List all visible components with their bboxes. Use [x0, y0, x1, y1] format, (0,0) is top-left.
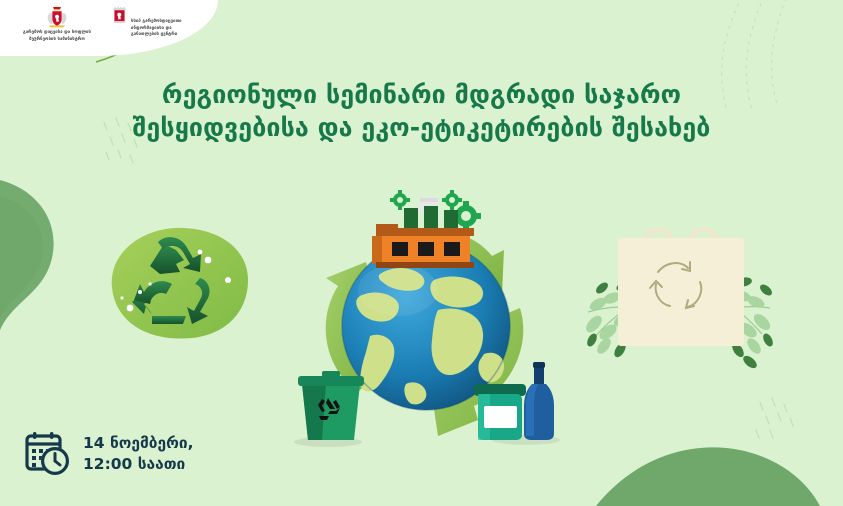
tote-bag [618, 229, 744, 346]
georgia-coat-of-arms-icon [46, 5, 68, 29]
recycle-bin-icon [294, 371, 364, 447]
title-line-2: შესყიდვებისა და ეკო-ეტიკეტირების შესახებ [60, 111, 783, 144]
logo-eiec-text: სსიპ გარემოსდაცვითი ინფორმაციისა და განა… [131, 4, 182, 38]
globe-recycling-cycle-illustration [288, 178, 568, 458]
title-line-1: რეგიონული სემინარი მდგრადი საჯარო [60, 78, 783, 111]
logo-eiec: სსიპ გარემოსდაცვითი ინფორმაციისა და განა… [112, 4, 220, 38]
logo-ministry: გარემოს დაცვისა და სოფლის მეურნეობის სამ… [8, 5, 106, 42]
poster-canvas: გარემოს დაცვისა და სოფლის მეურნეობის სამ… [0, 0, 843, 506]
red-shield-emblem-icon [112, 7, 127, 25]
recycling-symbol-illustration [88, 218, 268, 378]
factory-icon [372, 190, 481, 268]
event-datetime-text: 14 ნოემბერი, 12:00 საათი [83, 433, 194, 474]
logo-ministry-line2: მეურნეობის სამინისტრო [29, 36, 85, 43]
calendar-clock-icon [24, 430, 72, 478]
event-datetime: 14 ნოემბერი, 12:00 საათი [24, 430, 194, 478]
eco-tote-bag-illustration [578, 228, 778, 388]
event-date: 14 ნოემბერი, [83, 433, 194, 454]
logo-group: გარემოს დაცვისა და სოფლის მეურნეობის სამ… [0, 0, 230, 56]
event-time: 12:00 საათი [83, 454, 194, 475]
logo-eiec-line3: განათლების ცენტრი [131, 31, 182, 38]
logo-eiec-line1: სსიპ გარემოსდაცვითი [131, 18, 182, 25]
poster-title: რეგიონული სემინარი მდგრადი საჯარო შესყიდ… [0, 78, 843, 144]
